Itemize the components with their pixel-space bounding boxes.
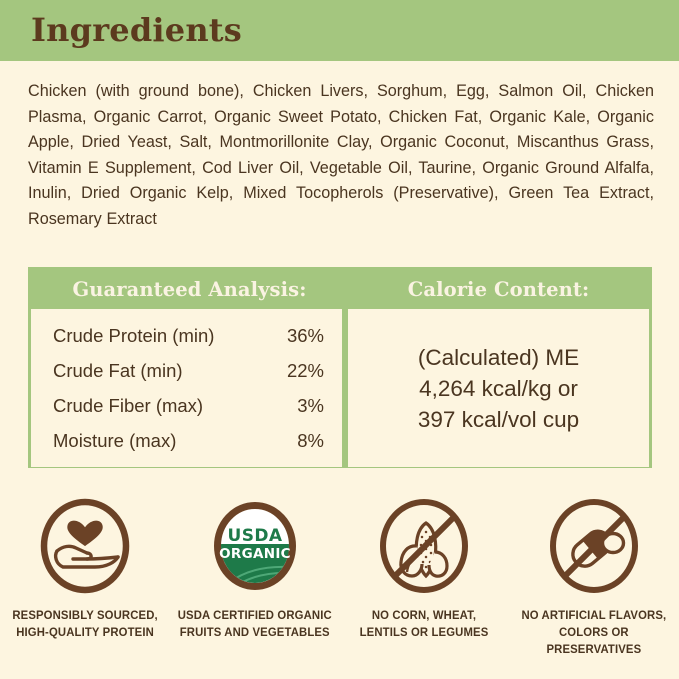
analysis-nutrient-value: 8%: [273, 423, 324, 458]
usda-seal-top-text: USDA: [227, 526, 282, 546]
calorie-content-heading: Calorie Content:: [348, 270, 649, 309]
badge-caption: NO CORN, WHEAT, LENTILS OR LEGUMES: [360, 607, 489, 641]
analysis-nutrient-name: Crude Protein (min): [53, 318, 273, 353]
ingredients-header-banner: Ingredients: [0, 0, 679, 61]
guaranteed-analysis-table: Crude Protein (min) 36% Crude Fat (min) …: [53, 318, 324, 458]
ingredients-list-text: Chicken (with ground bone), Chicken Live…: [28, 79, 654, 233]
no-corn-icon: [374, 496, 474, 596]
feature-badges-row: RESPONSIBLY SOURCED, HIGH-QUALITY PROTEI…: [0, 496, 679, 658]
calorie-content-box: (Calculated) ME 4,264 kcal/kg or 397 kca…: [348, 309, 649, 467]
usda-seal-bottom-text: ORGANIC: [219, 546, 291, 562]
heart-in-hand-icon: [35, 496, 135, 596]
analysis-nutrient-name: Crude Fiber (max): [53, 388, 273, 423]
analysis-nutrient-value: 22%: [273, 353, 324, 388]
nutrition-facts-panel: Guaranteed Analysis: Calorie Content: Cr…: [28, 267, 652, 468]
table-row: Crude Fat (min) 22%: [53, 353, 324, 388]
badge-no-artificial-additives: NO ARTIFICIAL FLAVORS, COLORS OR PRESERV…: [509, 496, 679, 658]
table-row: Moisture (max) 8%: [53, 423, 324, 458]
analysis-nutrient-name: Crude Fat (min): [53, 353, 273, 388]
no-artificial-additives-icon: [544, 496, 644, 596]
analysis-nutrient-name: Moisture (max): [53, 423, 273, 458]
guaranteed-analysis-box: Crude Protein (min) 36% Crude Fat (min) …: [31, 309, 342, 467]
usda-organic-seal-icon: USDA ORGANIC: [205, 496, 305, 596]
facts-header-row: Guaranteed Analysis: Calorie Content:: [31, 270, 649, 309]
table-row: Crude Fiber (max) 3%: [53, 388, 324, 423]
badge-no-corn: NO CORN, WHEAT, LENTILS OR LEGUMES: [340, 496, 510, 658]
badge-caption: USDA CERTIFIED ORGANIC FRUITS AND VEGETA…: [178, 607, 332, 641]
badge-caption: RESPONSIBLY SOURCED, HIGH-QUALITY PROTEI…: [12, 607, 157, 641]
table-row: Crude Protein (min) 36%: [53, 318, 324, 353]
pet-food-label-card: Ingredients Chicken (with ground bone), …: [0, 0, 679, 679]
ingredients-section: Chicken (with ground bone), Chicken Live…: [28, 79, 654, 233]
badge-responsibly-sourced: RESPONSIBLY SOURCED, HIGH-QUALITY PROTEI…: [0, 496, 170, 658]
page-title: Ingredients: [31, 9, 242, 51]
guaranteed-analysis-heading: Guaranteed Analysis:: [31, 270, 348, 309]
badge-caption: NO ARTIFICIAL FLAVORS, COLORS OR PRESERV…: [516, 607, 672, 658]
facts-body-row: Crude Protein (min) 36% Crude Fat (min) …: [31, 309, 649, 467]
analysis-nutrient-value: 36%: [273, 318, 324, 353]
analysis-nutrient-value: 3%: [273, 388, 324, 423]
badge-usda-organic: USDA ORGANIC USDA CERTIFIED ORGANIC FRUI…: [170, 496, 340, 658]
calorie-content-text: (Calculated) ME 4,264 kcal/kg or 397 kca…: [418, 342, 579, 435]
